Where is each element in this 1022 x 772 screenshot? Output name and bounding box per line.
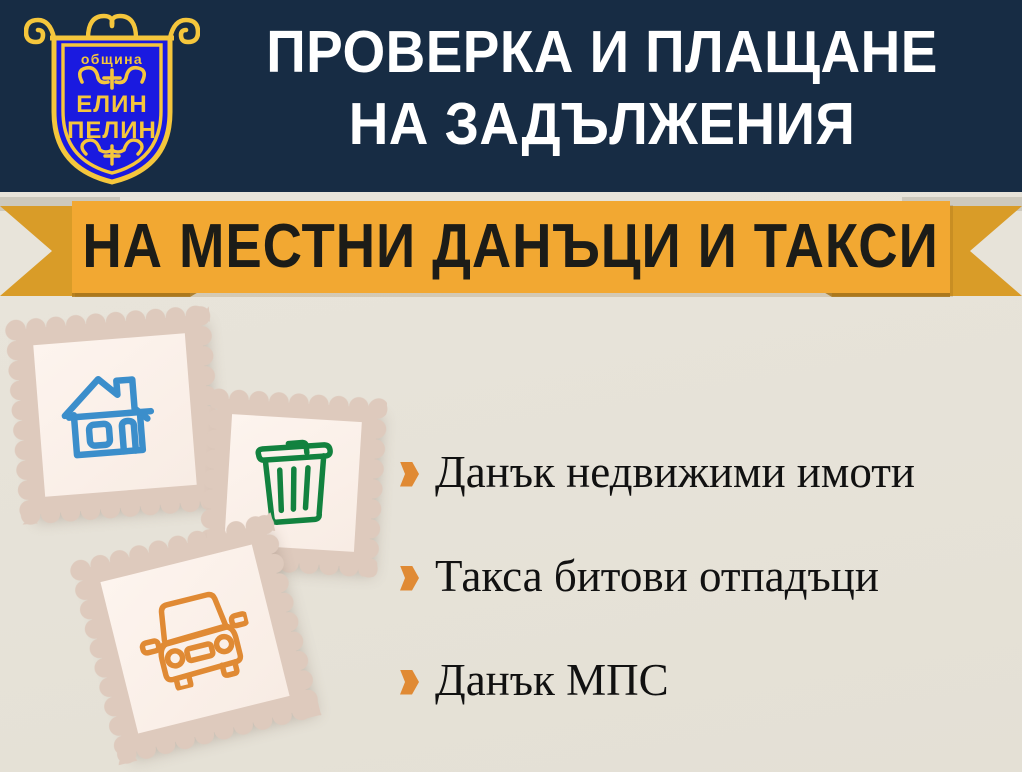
list-item-label: Данък МПС bbox=[435, 654, 669, 706]
ribbon-text: НА МЕСТНИ ДАНЪЦИ И ТАКСИ bbox=[83, 216, 939, 278]
stamp-card-house bbox=[15, 315, 215, 515]
stamp-paper bbox=[100, 544, 289, 733]
arrow-bullet-icon bbox=[400, 670, 419, 695]
tax-type-list: Данък недвижими имоти Такса битови отпад… bbox=[400, 420, 1010, 732]
stamp-card-car bbox=[80, 524, 310, 754]
poster-canvas: община ЕЛИН ПЕЛИН ПР bbox=[0, 0, 1022, 772]
crest-line-1: община bbox=[81, 51, 143, 67]
list-item[interactable]: Данък МПС bbox=[400, 628, 1010, 732]
arrow-bullet-icon bbox=[400, 566, 419, 591]
subtitle-ribbon: НА МЕСТНИ ДАНЪЦИ И ТАКСИ bbox=[0, 186, 1022, 308]
list-item[interactable]: Такса битови отпадъци bbox=[400, 524, 1010, 628]
stamp-paper bbox=[33, 333, 196, 496]
car-front-icon bbox=[130, 581, 261, 697]
crest-line-2: ЕЛИН bbox=[76, 91, 147, 118]
crest-line-3: ПЕЛИН bbox=[67, 117, 157, 144]
coat-of-arms-svg: община ЕЛИН ПЕЛИН bbox=[24, 8, 200, 188]
header-bar: община ЕЛИН ПЕЛИН ПР bbox=[0, 0, 1022, 192]
list-item-label: Такса битови отпадъци bbox=[435, 550, 879, 602]
ribbon-band: НА МЕСТНИ ДАНЪЦИ И ТАКСИ bbox=[72, 201, 950, 293]
list-item-label: Данък недвижими имоти bbox=[435, 446, 915, 498]
scallop-edge-right bbox=[357, 398, 388, 577]
page-title-line-2: НА ЗАДЪЛЖЕНИЯ bbox=[224, 88, 979, 160]
page-title-line-1: ПРОВЕРКА И ПЛАЩАНЕ bbox=[224, 16, 979, 88]
arrow-bullet-icon bbox=[400, 462, 419, 487]
page-title: ПРОВЕРКА И ПЛАЩАНЕ НА ЗАДЪЛЖЕНИЯ bbox=[196, 16, 1008, 160]
house-icon bbox=[57, 361, 173, 469]
coat-of-arms: община ЕЛИН ПЕЛИН bbox=[24, 8, 200, 188]
list-item[interactable]: Данък недвижими имоти bbox=[400, 420, 1010, 524]
